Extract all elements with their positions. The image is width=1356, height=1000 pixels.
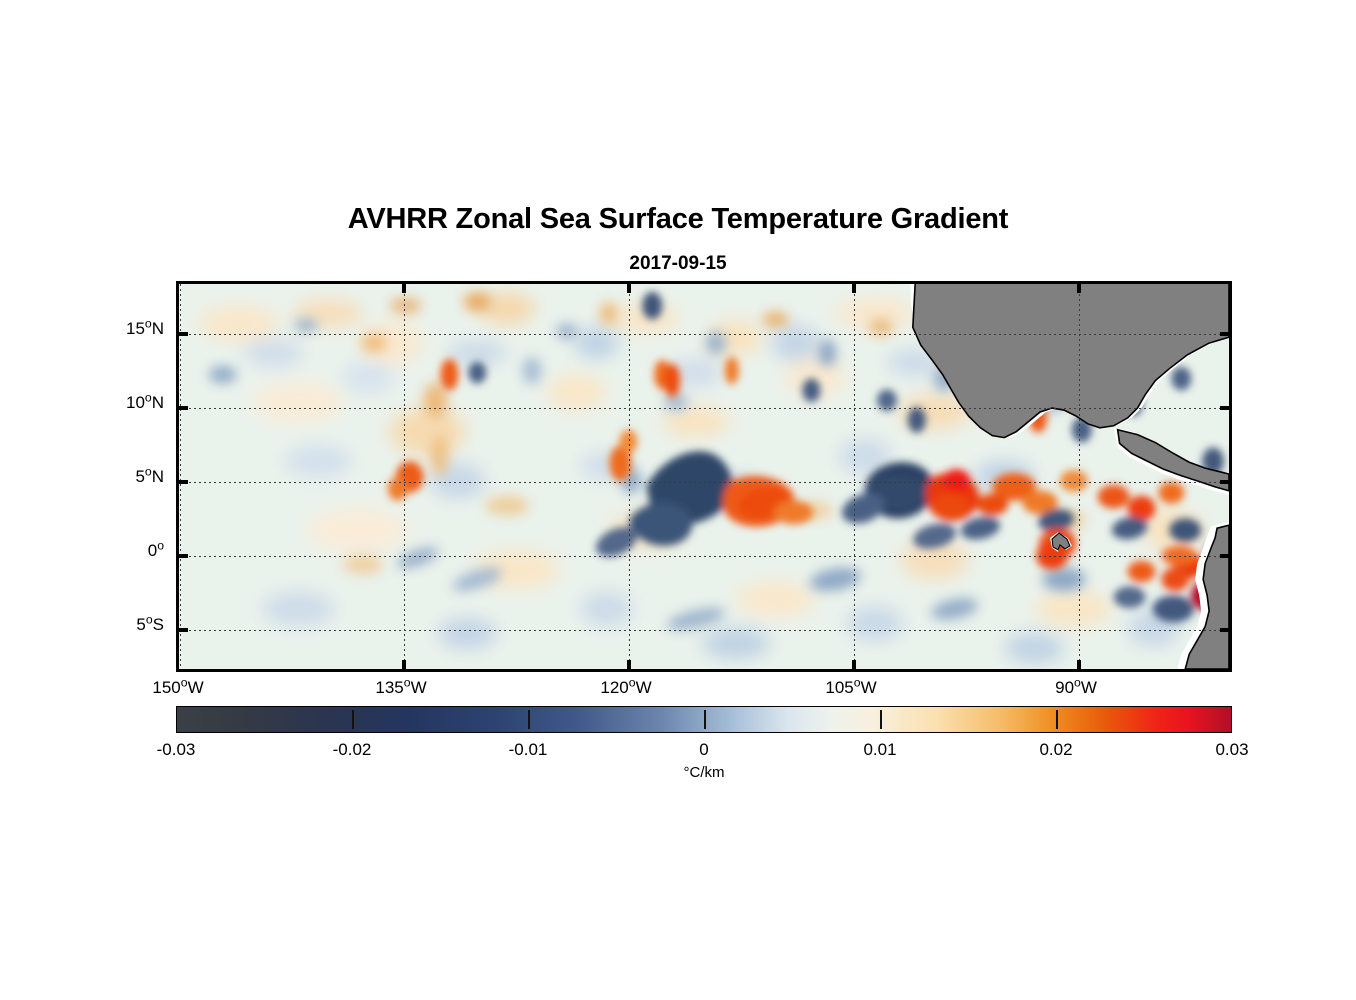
tick-lat-10N-right: [1220, 406, 1229, 410]
figure-title: AVHRR Zonal Sea Surface Temperature Grad…: [0, 203, 1356, 236]
tick-lat-0: [179, 554, 188, 558]
tick-lat-5S-right: [1220, 628, 1229, 632]
x-tick-label-135W: 135oW: [321, 678, 481, 698]
colorbar-tick-0.02: [1056, 710, 1058, 729]
tick-lat-5N-right: [1220, 480, 1229, 484]
tick-lat-15N: [179, 332, 188, 336]
tick-lat-15N-right: [1220, 332, 1229, 336]
map-axes: [176, 281, 1232, 672]
colorbar-tick-0: [704, 710, 706, 729]
colorbar-label-0: 0: [644, 740, 764, 760]
tick-lon-120W-top: [627, 284, 631, 293]
y-tick-label-10N: 10oN: [44, 393, 164, 413]
colorbar-label--0.03: -0.03: [116, 740, 236, 760]
y-tick-label-5N: 5oN: [44, 467, 164, 487]
x-tick-label-105W: 105oW: [771, 678, 931, 698]
x-tick-label-120W: 120oW: [546, 678, 706, 698]
colorbar-tick-0.01: [880, 710, 882, 729]
colorbar-label--0.01: -0.01: [468, 740, 588, 760]
x-tick-label-150W: 150oW: [98, 678, 258, 698]
colorbar-label-0.01: 0.01: [820, 740, 940, 760]
colorbar[interactable]: -0.03 -0.02 -0.01 0 0.01 0.02 0.03 °C/km: [176, 706, 1232, 733]
tick-lon-120W: [627, 660, 631, 669]
tick-lon-135W-top: [402, 284, 406, 293]
colorbar-label--0.02: -0.02: [292, 740, 412, 760]
tick-lat-0-right: [1220, 554, 1229, 558]
tick-lon-90W: [1077, 660, 1081, 669]
tick-lat-10N: [179, 406, 188, 410]
colorbar-unit-label: °C/km: [176, 764, 1232, 781]
tick-lon-105W: [852, 660, 856, 669]
colorbar-tick--0.02: [352, 710, 354, 729]
y-tick-label-0: 0o: [44, 541, 164, 561]
tick-lon-105W-top: [852, 284, 856, 293]
sst-gradient-field: [179, 284, 1229, 669]
colorbar-label-0.03: 0.03: [1172, 740, 1292, 760]
tick-lat-5N: [179, 480, 188, 484]
tick-lon-90W-top: [1077, 284, 1081, 293]
figure-subtitle: 2017-09-15: [0, 253, 1356, 275]
y-tick-label-5S: 5oS: [44, 615, 164, 635]
y-tick-label-15N: 15oN: [44, 319, 164, 339]
tick-lat-5S: [179, 628, 188, 632]
tick-lon-135W: [402, 660, 406, 669]
x-tick-label-90W: 90oW: [996, 678, 1156, 698]
figure-canvas: AVHRR Zonal Sea Surface Temperature Grad…: [0, 0, 1356, 1000]
colorbar-label-0.02: 0.02: [996, 740, 1116, 760]
colorbar-tick--0.01: [528, 710, 530, 729]
